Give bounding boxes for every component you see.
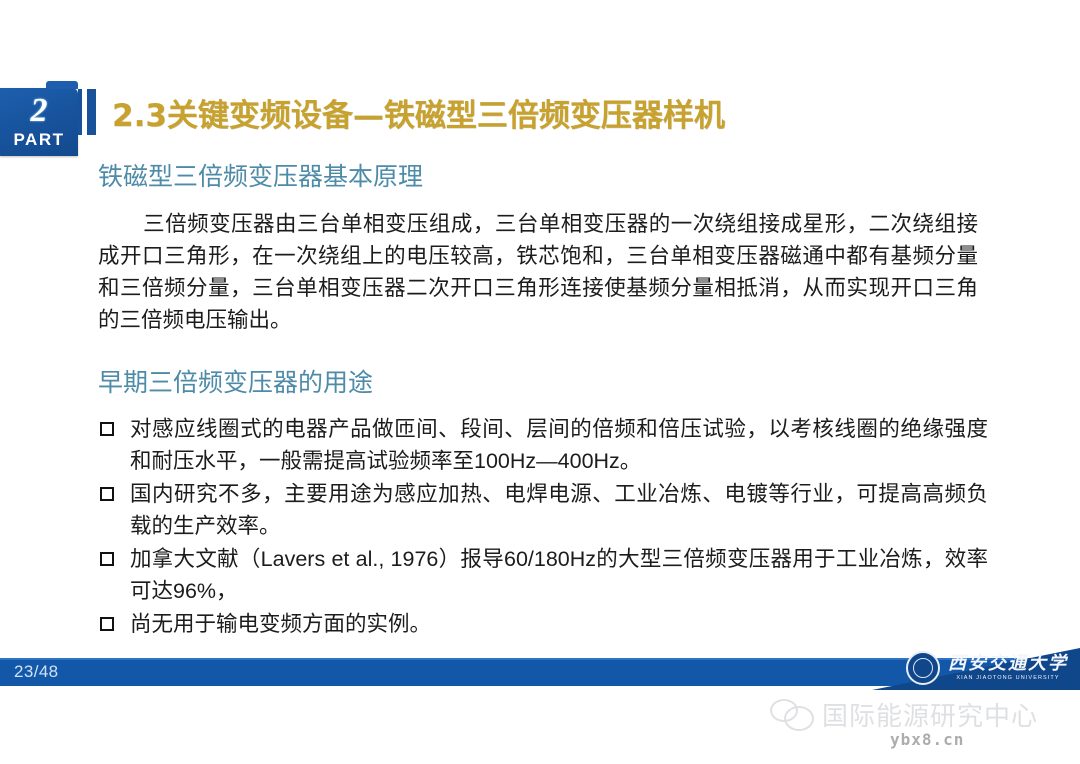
list-item: 尚无用于输电变频方面的实例。 <box>98 609 988 641</box>
square-bullet-icon <box>100 617 114 631</box>
badge-label: PART <box>0 130 78 150</box>
title-accent-bar-thin <box>78 89 82 135</box>
list-item-text: 对感应线圈式的电器产品做匝间、段间、层间的倍频和倍压试验，以考核线圈的绝缘强度和… <box>130 417 988 473</box>
university-name-en: XIAN JIAOTONG UNIVERSITY <box>948 676 1068 682</box>
watermark-row: 国际能源研究中心 <box>770 696 1070 733</box>
badge-number: 2 <box>0 88 78 130</box>
list-item: 对感应线圈式的电器产品做匝间、段间、层间的倍频和倍压试验，以考核线圈的绝缘强度和… <box>98 414 988 477</box>
university-logo-text: 西安交通大学 XIAN JIAOTONG UNIVERSITY <box>948 655 1068 682</box>
university-logo: 西安交通大学 XIAN JIAOTONG UNIVERSITY <box>906 651 1068 685</box>
title-accent-bar-thick <box>87 89 96 135</box>
list-item-text: 加拿大文献（Lavers et al., 1976）报导60/180Hz的大型三… <box>130 547 988 603</box>
part-badge: 2 PART <box>0 88 78 156</box>
title-row: 2.3关键变频设备—铁磁型三倍频变压器样机 <box>78 86 725 138</box>
badge-tab-notch <box>46 81 78 89</box>
list-item-text: 国内研究不多，主要用途为感应加热、电焊电源、工业冶炼、电镀等行业，可提高高频负载… <box>130 482 988 538</box>
list-item: 国内研究不多，主要用途为感应加热、电焊电源、工业冶炼、电镀等行业，可提高高频负载… <box>98 479 988 542</box>
watermark: 国际能源研究中心 ybx8.cn <box>770 696 1070 756</box>
square-bullet-icon <box>100 487 114 501</box>
wechat-icon <box>770 699 812 731</box>
watermark-text: 国际能源研究中心 <box>822 696 1038 733</box>
wechat-bubble-front <box>784 706 814 731</box>
page-title: 2.3关键变频设备—铁磁型三倍频变压器样机 <box>112 90 725 135</box>
section-heading-uses: 早期三倍频变压器的用途 <box>98 366 998 400</box>
square-bullet-icon <box>100 552 114 566</box>
section-heading-principle: 铁磁型三倍频变压器基本原理 <box>98 160 998 194</box>
square-bullet-icon <box>100 422 114 436</box>
list-item: 加拿大文献（Lavers et al., 1976）报导60/180Hz的大型三… <box>98 544 988 607</box>
uses-bullet-list: 对感应线圈式的电器产品做匝间、段间、层间的倍频和倍压试验，以考核线圈的绝缘强度和… <box>98 414 988 641</box>
list-item-text: 尚无用于输电变频方面的实例。 <box>130 612 431 636</box>
university-seal-icon <box>906 651 940 685</box>
university-name-cn: 西安交通大学 <box>948 655 1068 673</box>
watermark-url: ybx8.cn <box>890 730 964 749</box>
slide-content: 铁磁型三倍频变压器基本原理 三倍频变压器由三台单相变压组成，三台单相变压器的一次… <box>98 160 998 643</box>
principle-paragraph: 三倍频变压器由三台单相变压组成，三台单相变压器的一次绕组接成星形，二次绕组接成开… <box>98 208 978 336</box>
page-number: 23/48 <box>14 662 59 682</box>
